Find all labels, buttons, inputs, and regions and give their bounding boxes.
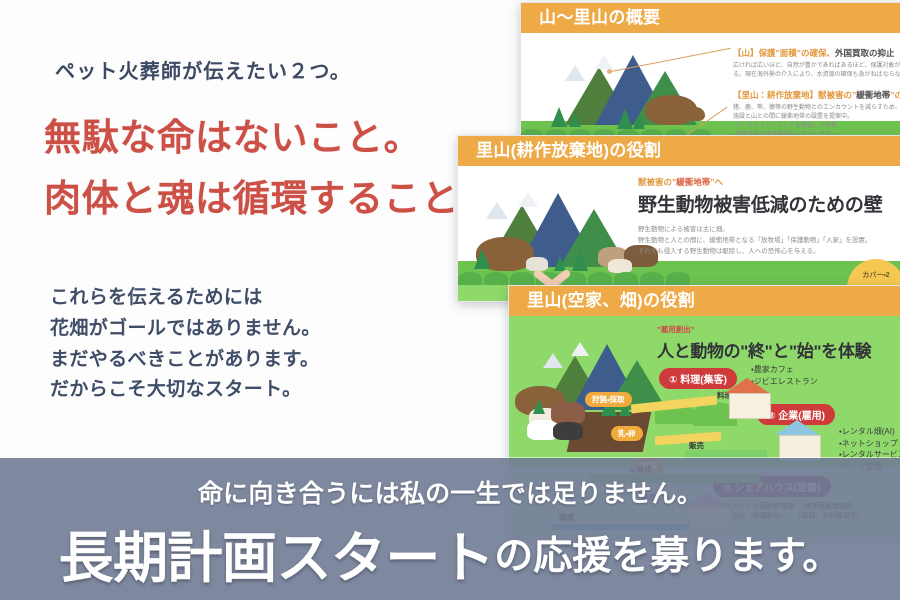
flow-label-sale: 販売 [689,440,704,451]
slide-body: 獣被害の”緩衝地帯”へ 野生動物被害低減のための壁 野生動物による被害は主に畑。… [458,166,900,301]
body-line: 野生動物による被害は主に畑。 [638,224,900,235]
supporting-paragraph: これらを伝えるためには 花畑がゴールではありません。 まだやるべきことがあります… [50,283,321,406]
slide1-block1-body: 広ければ広いほど、自然が豊かであればあるほど、保護対象が増える。現在海外勢の介入… [733,62,900,80]
tag-dairy-egg: 乳・卵 [611,426,643,441]
slide-title: 里山(耕作放棄地)の役割 [458,136,900,166]
banner-emphasis: 長期計画スタート [59,527,495,589]
heading-plain: 【里山：耕作放棄地】獣被害の” [733,90,856,100]
heading-plain: 【山】保護”面積”の確保、 [733,48,835,58]
tag-hunting: 狩猟・採取 [585,392,632,407]
slide-overview[interactable]: 山～里山の概要 [520,2,900,156]
lead-text: ペット火葬師が伝えたい２つ。 [55,55,351,84]
heading-tail: ”の設置 [890,90,900,100]
bullet: ・ネットショップ [839,438,900,450]
slide2-headline: 野生動物被害低減のための壁 [638,190,900,217]
body-line: それでも侵入する野生動物は駆除し、人への恐怖心を与える。 [638,246,900,257]
slide-satoyama-farmland[interactable]: 里山(耕作放棄地)の役割 [457,135,900,302]
heading-bold: 緩衝地帯 [856,90,890,100]
left-copy-block: ペット火葬師が伝えたい２つ。 無駄な命はないこと。 肉体と魂は循環すること。 こ… [0,0,520,460]
kicker-tail: ”へ [710,177,723,187]
house-enterprise-icon [775,420,821,462]
screenshot-root: ペット火葬師が伝えたい２つ。 無駄な命はないこと。 肉体と魂は循環すること。 こ… [0,0,900,600]
paragraph-line: だからこそ大切なスタート。 [50,375,321,406]
slide2-kicker: 獣被害の”緩衝地帯”へ [638,176,900,188]
paragraph-line: まだやるべきことがあります。 [50,345,321,376]
paragraph-line: 花畑がゴールではありません。 [50,314,321,345]
slide2-text-column: 獣被害の”緩衝地帯”へ 野生動物被害低減のための壁 野生動物による被害は主に畑。… [638,176,900,257]
house-cafe-icon [725,378,771,420]
bullet: ・レンタル畑(AI) [839,426,900,438]
banner-line-2: 長期計画スタートの応援を募ります。 [0,513,900,593]
headline-secondary: 肉体と魂は循環すること。 [44,168,497,222]
slide-title: 山～里山の概要 [521,3,900,33]
paragraph-line: これらを伝えるためには [50,283,321,314]
banner-rest: の応援を募ります。 [494,535,841,578]
body-line: 野生動物と人との間に、緩衝地帯となる「放牧場」「保護動物」「人家」を設置。 [638,235,900,246]
kicker-plain: 獣被害の” [638,177,676,187]
slide3-text-column: ”雇用創出” 人と動物の"終"と"始"を体験 [657,324,900,362]
slide3-kicker: ”雇用創出” [657,324,900,335]
slide3-headline: 人と動物の"終"と"始"を体験 [657,337,900,362]
kicker-bold: 緩衝地帯 [676,177,710,187]
slide1-block1-heading: 【山】保護”面積”の確保、外国買取の抑止 [733,47,900,59]
bottom-banner: 命に向き合うには私の一生では足りません。 長期計画スタートの応援を募ります。 [0,458,900,600]
slide2-body: 野生動物による被害は主に畑。 野生動物と人との間に、緩衝地帯となる「放牧場」「保… [638,224,900,257]
slide1-block2-body: 猪、鹿、熊、猿等の野生動物とのエンカウントを減らすため、里山施設と山との間に緩衝… [733,104,900,122]
banner-line-1: 命に向き合うには私の一生では足りません。 [0,474,900,510]
slide1-block2-heading: 【里山：耕作放棄地】獣被害の”緩衝地帯”の設置 [733,89,900,101]
slide1-bullet: ・アニマルウェルフェアを徹底した飼育 [733,122,900,131]
slide1-text-column: 【山】保護”面積”の確保、外国買取の抑止 広ければ広いほど、自然が豊かであればあ… [733,47,900,149]
bullet: ・農家カフェ [751,364,818,376]
page-marker-label: カバー・2 [847,270,900,280]
flow-label-cooking: 料理 [717,392,725,400]
headline-primary: 無駄な命はないこと。 [44,107,421,161]
heading-bold: 外国買取の抑止 [835,48,895,58]
slide-title: 里山(空家、畑)の役割 [509,286,900,316]
